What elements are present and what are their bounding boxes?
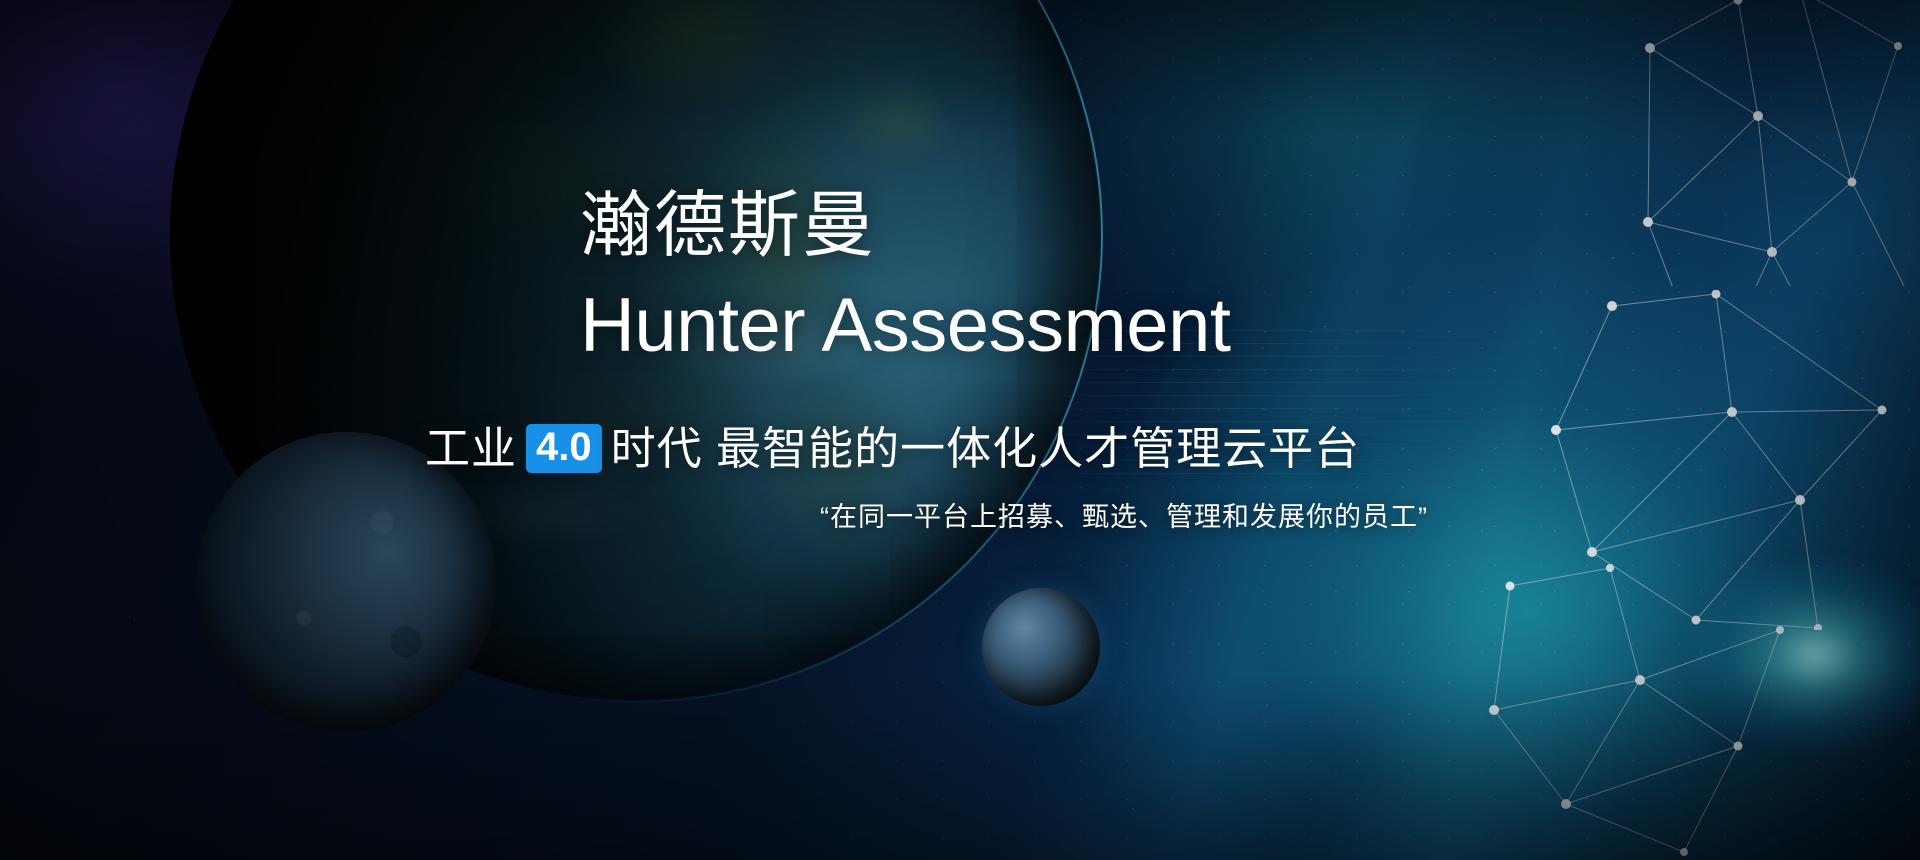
hero-quote: “在同一平台上招募、甄选、管理和发展你的员工” — [820, 504, 1428, 531]
hero-text-block: 瀚德斯曼 Hunter Assessment 工业 4.0 时代 最智能的一体化… — [0, 0, 1920, 860]
tagline-prefix: 工业 — [425, 426, 517, 471]
industry-version-badge: 4.0 — [526, 424, 602, 473]
brand-title-chinese: 瀚德斯曼 — [580, 190, 876, 262]
hero-banner: 瀚德斯曼 Hunter Assessment 工业 4.0 时代 最智能的一体化… — [0, 0, 1920, 860]
tagline-suffix: 时代 最智能的一体化人才管理云平台 — [611, 426, 1361, 471]
tagline: 工业 4.0 时代 最智能的一体化人才管理云平台 — [425, 424, 1360, 473]
brand-title-english: Hunter Assessment — [580, 288, 1230, 364]
